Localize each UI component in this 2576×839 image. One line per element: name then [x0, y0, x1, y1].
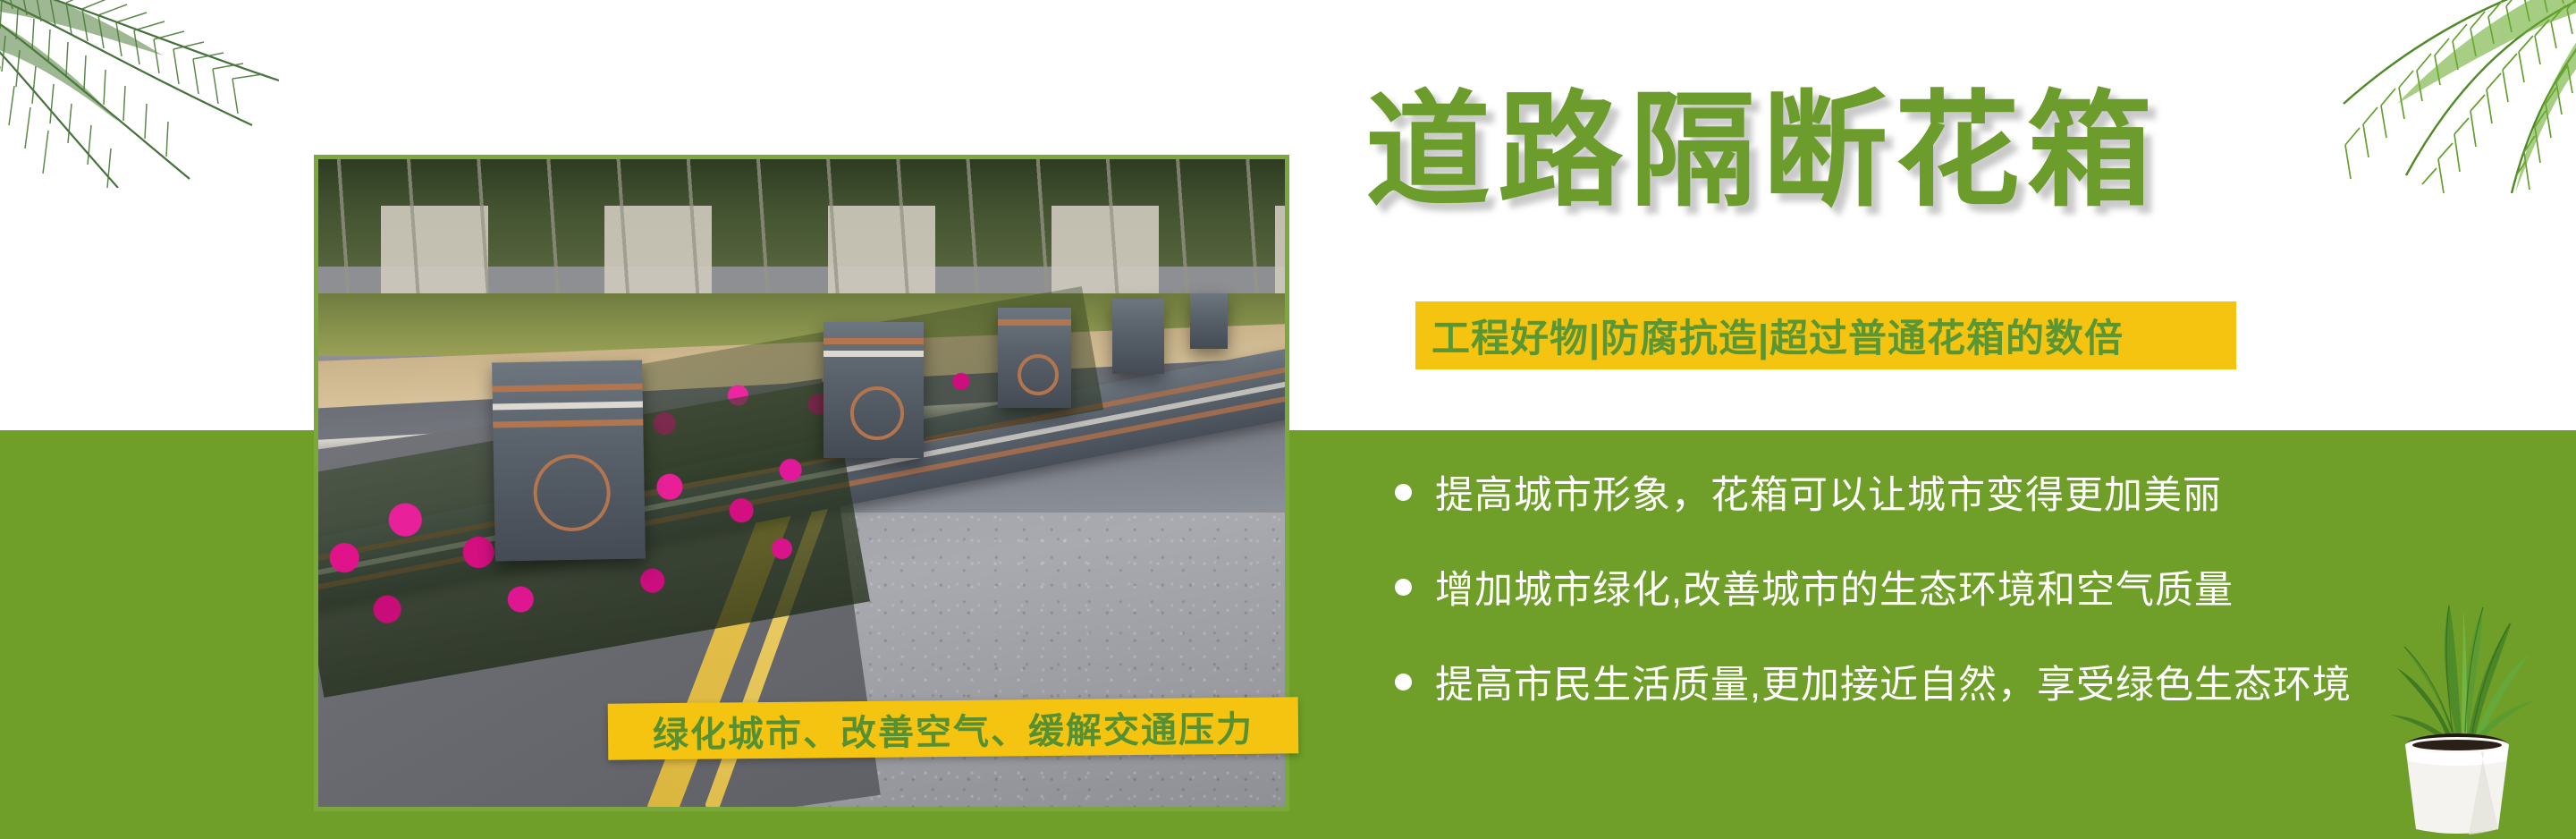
list-item: 提高城市形象，花箱可以让城市变得更加美丽: [1395, 463, 2557, 521]
bullet-dot-icon: [1395, 484, 1412, 501]
flower-box-icon: [1112, 299, 1164, 374]
flower-box-icon: [823, 322, 924, 458]
palm-leaf-icon: [2290, 0, 2576, 193]
list-item-label: 提高城市形象，花箱可以让城市变得更加美丽: [1435, 464, 2222, 520]
flower-box-icon: [1190, 293, 1228, 349]
tagline-bar: 工程好物|防腐抗造|超过普通花箱的数倍: [1415, 301, 2236, 369]
list-item: 增加城市绿化,改善城市的生态环境和空气质量: [1395, 558, 2557, 615]
photo-caption-text: 绿化城市、改善空气、缓解交通压力: [653, 699, 1254, 757]
flower-box-icon: [998, 308, 1071, 408]
tagline-text: 工程好物|防腐抗造|超过普通花箱的数倍: [1415, 308, 2124, 363]
flower-box-icon: [492, 360, 646, 562]
bullet-dot-icon: [1395, 674, 1412, 691]
page-title: 道路隔断花箱: [1365, 85, 2159, 216]
list-item-label: 提高市民生活质量,更加接近自然，享受绿色生态环境: [1435, 654, 2352, 709]
photo-caption-ribbon: 绿化城市、改善空气、缓解交通压力: [608, 697, 1299, 759]
palm-leaf-icon: [0, 0, 279, 188]
list-item: 提高市民生活质量,更加接近自然，享受绿色生态环境: [1395, 653, 2557, 710]
feature-list: 提高城市形象，花箱可以让城市变得更加美丽 增加城市绿化,改善城市的生态环境和空气…: [1395, 463, 2557, 748]
bullet-dot-icon: [1395, 579, 1412, 596]
promo-banner: 绿化城市、改善空气、缓解交通压力 道路隔断花箱 工程好物|防腐抗造|超过普通花箱…: [0, 0, 2576, 839]
list-item-label: 增加城市绿化,改善城市的生态环境和空气质量: [1435, 559, 2234, 614]
